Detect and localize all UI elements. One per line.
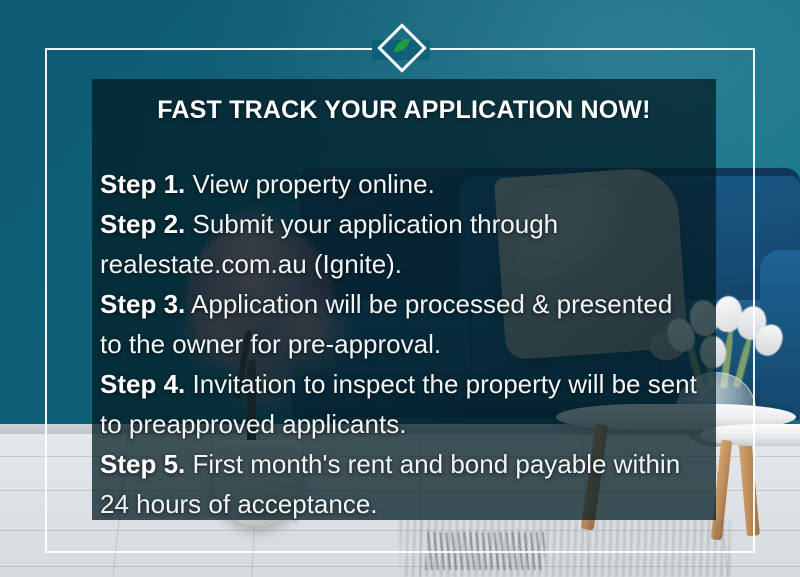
list-item: Step 1. View property online. — [100, 164, 700, 204]
list-item: Step 4. Invitation to inspect the proper… — [100, 364, 700, 444]
step-label: Step 4. — [100, 369, 185, 399]
step-text: First month's rent and bond payable with… — [100, 449, 680, 519]
list-item: Step 3. Application will be processed & … — [100, 284, 700, 364]
list-item: Step 2. Submit your application through … — [100, 204, 700, 284]
step-label: Step 3. — [100, 289, 185, 319]
list-item: Step 5. First month's rent and bond paya… — [100, 444, 700, 524]
page-title: FAST TRACK YOUR APPLICATION NOW! — [92, 96, 716, 125]
step-label: Step 2. — [100, 209, 185, 239]
steps-list: Step 1. View property online. Step 2. Su… — [100, 164, 700, 524]
step-label: Step 5. — [100, 449, 185, 479]
step-label: Step 1. — [100, 169, 185, 199]
promo-poster: FAST TRACK YOUR APPLICATION NOW! Step 1.… — [0, 0, 800, 577]
diamond-leaf-logo — [374, 20, 430, 76]
step-text: View property online. — [185, 169, 435, 199]
step-text: Application will be processed & presente… — [100, 289, 672, 359]
step-text: Invitation to inspect the property will … — [100, 369, 697, 439]
